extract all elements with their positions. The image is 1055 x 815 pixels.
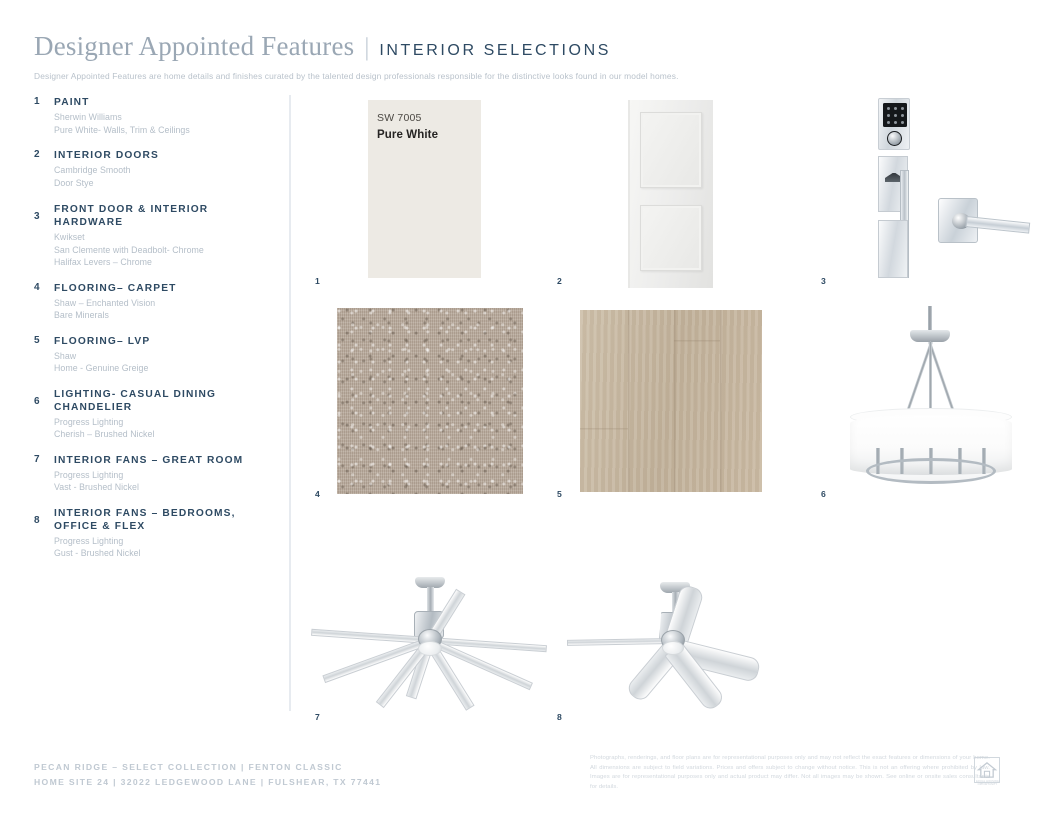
- footer-line-1: PECAN RIDGE – SELECT COLLECTION | FENTON…: [34, 760, 381, 775]
- item-detail-line: Progress Lighting: [54, 416, 280, 428]
- item-title: INTERIOR DOORS: [54, 149, 280, 162]
- item-details: Progress Lighting Vast - Brushed Nickel: [54, 469, 280, 494]
- list-item: 3 FRONT DOOR & INTERIOR HARDWARE Kwikset…: [34, 203, 280, 269]
- item-detail-line: Progress Lighting: [54, 535, 280, 547]
- bedroom-fan-image: [565, 578, 785, 688]
- item-title: INTERIOR FANS – BEDROOMS, OFFICE & FLEX: [54, 507, 244, 533]
- item-details: Progress Lighting Cherish – Brushed Nick…: [54, 416, 280, 441]
- vertical-divider: [289, 95, 291, 711]
- item-title: FLOORING– LVP: [54, 335, 280, 348]
- item-title: LIGHTING- CASUAL DINING CHANDELIER: [54, 388, 234, 414]
- interior-door-image: [628, 100, 713, 288]
- item-detail-line: Shaw – Enchanted Vision: [54, 297, 280, 309]
- chandelier-image: [836, 300, 1026, 492]
- chandelier-canopy: [910, 330, 950, 342]
- item-details: Cambridge Smooth Door Stye: [54, 164, 280, 189]
- item-number: 7: [34, 454, 50, 465]
- keypad-screen: [883, 103, 907, 127]
- item-details: Shaw – Enchanted Vision Bare Minerals: [54, 297, 280, 322]
- title-row: Designer Appointed Features | INTERIOR S…: [34, 32, 1024, 62]
- door-panel-bottom: [640, 205, 702, 271]
- item-detail-line: Gust - Brushed Nickel: [54, 547, 280, 559]
- footer-disclaimer: Photographs, renderings, and floor plans…: [590, 754, 990, 792]
- item-detail-line: Halifax Levers – Chrome: [54, 256, 280, 268]
- item-details: Progress Lighting Gust - Brushed Nickel: [54, 535, 280, 560]
- paint-name-label: Pure White: [377, 129, 438, 141]
- door-hardware-image: [860, 96, 1040, 286]
- handleset-lower-plate: [878, 220, 908, 278]
- item-number: 1: [34, 96, 50, 107]
- item-detail-line: Shaw: [54, 350, 280, 362]
- item-detail-line: Pure White- Walls, Trim & Ceilings: [54, 124, 280, 136]
- item-detail-line: Sherwin Williams: [54, 111, 280, 123]
- item-details: Sherwin Williams Pure White- Walls, Trim…: [54, 111, 280, 136]
- list-item: 7 INTERIOR FANS – GREAT ROOM Progress Li…: [34, 454, 280, 494]
- item-detail-line: Progress Lighting: [54, 469, 280, 481]
- deadbolt-turn-knob: [887, 131, 902, 146]
- lvp-flooring-image: [580, 310, 762, 492]
- caption-6: 6: [821, 489, 826, 499]
- item-number: 3: [34, 211, 50, 222]
- item-detail-line: San Clemente with Deadbolt- Chrome: [54, 244, 280, 256]
- door-panel-top: [640, 112, 702, 188]
- keypad-deadbolt-icon: [878, 98, 910, 150]
- item-title: FRONT DOOR & INTERIOR HARDWARE: [54, 203, 236, 229]
- item-detail-line: Vast - Brushed Nickel: [54, 481, 280, 493]
- item-title: PAINT: [54, 96, 280, 109]
- chandelier-cage-ring: [866, 458, 996, 484]
- list-item: 8 INTERIOR FANS – BEDROOMS, OFFICE & FLE…: [34, 507, 280, 560]
- list-item: 1 PAINT Sherwin Williams Pure White- Wal…: [34, 96, 280, 136]
- item-detail-line: Home - Genuine Greige: [54, 362, 280, 374]
- interior-selections-page: Designer Appointed Features | INTERIOR S…: [0, 0, 1055, 815]
- item-detail-line: Door Stye: [54, 177, 280, 189]
- item-detail-line: Cherish – Brushed Nickel: [54, 428, 280, 440]
- caption-4: 4: [315, 489, 320, 499]
- selections-list: 1 PAINT Sherwin Williams Pure White- Wal…: [34, 96, 280, 570]
- title-divider: |: [364, 34, 369, 62]
- paint-swatch-image: SW 7005 Pure White: [368, 100, 481, 278]
- item-details: Kwikset San Clemente with Deadbolt- Chro…: [54, 231, 280, 268]
- item-details: Shaw Home - Genuine Greige: [54, 350, 280, 375]
- item-number: 5: [34, 335, 50, 346]
- carpet-swatch-image: [337, 308, 523, 494]
- item-number: 4: [34, 282, 50, 293]
- page-subtitle-heading: INTERIOR SELECTIONS: [379, 42, 611, 60]
- great-room-fan-image: [310, 575, 550, 690]
- item-number: 8: [34, 515, 50, 526]
- fan-blade: [567, 638, 673, 646]
- caption-5: 5: [557, 489, 562, 499]
- page-header: Designer Appointed Features | INTERIOR S…: [34, 32, 1024, 82]
- page-title: Designer Appointed Features: [34, 32, 354, 62]
- item-detail-line: Bare Minerals: [54, 309, 280, 321]
- caption-8: 8: [557, 712, 562, 722]
- item-title: FLOORING– CARPET: [54, 282, 280, 295]
- caption-2: 2: [557, 276, 562, 286]
- item-detail-line: Cambridge Smooth: [54, 164, 280, 176]
- item-detail-line: Kwikset: [54, 231, 280, 243]
- fan-light-kit: [418, 641, 442, 656]
- item-number: 2: [34, 149, 50, 160]
- header-description: Designer Appointed Features are home det…: [34, 71, 1024, 82]
- caption-1: 1: [315, 276, 320, 286]
- fan-blade: [311, 629, 429, 644]
- list-item: 4 FLOORING– CARPET Shaw – Enchanted Visi…: [34, 282, 280, 322]
- eho-label: EQUAL HOUSING OPPORTUNITY: [971, 780, 1004, 786]
- list-item: 2 INTERIOR DOORS Cambridge Smooth Door S…: [34, 149, 280, 189]
- list-item: 6 LIGHTING- CASUAL DINING CHANDELIER Pro…: [34, 388, 280, 441]
- list-item: 5 FLOORING– LVP Shaw Home - Genuine Grei…: [34, 335, 280, 375]
- footer-line-2: HOME SITE 24 | 32022 LEDGEWOOD LANE | FU…: [34, 775, 381, 790]
- caption-3: 3: [821, 276, 826, 286]
- item-title: INTERIOR FANS – GREAT ROOM: [54, 454, 280, 467]
- item-number: 6: [34, 396, 50, 407]
- caption-7: 7: [315, 712, 320, 722]
- footer-community-info: PECAN RIDGE – SELECT COLLECTION | FENTON…: [34, 760, 381, 790]
- fan-light-kit: [662, 641, 684, 655]
- paint-code-label: SW 7005: [377, 112, 422, 124]
